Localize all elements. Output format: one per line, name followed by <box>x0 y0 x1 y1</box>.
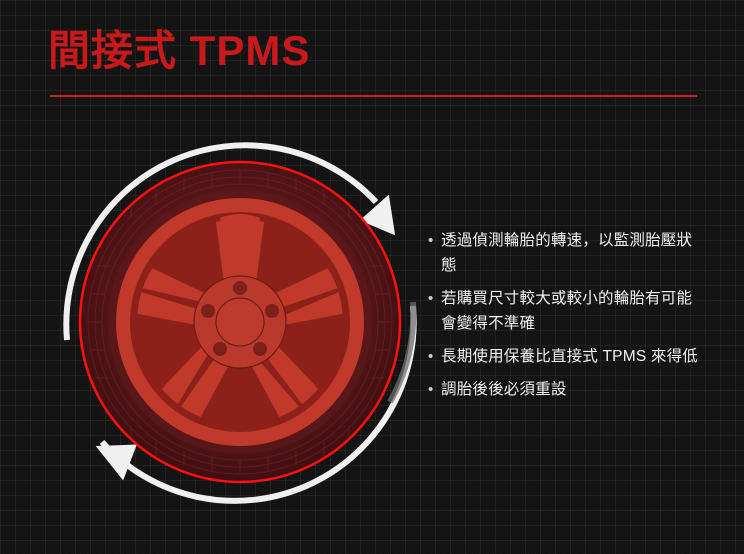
bullet-text: 透過偵測輪胎的轉速，以監測胎壓狀態 <box>441 228 700 278</box>
bullet-dot-icon: • <box>428 286 441 311</box>
title-divider-rule <box>50 95 697 97</box>
list-item: • 若購買尺寸較大或較小的輪胎有可能會變得不準確 <box>428 286 700 336</box>
lug-bolt <box>233 281 247 295</box>
page-title: 間接式 TPMS <box>48 28 310 74</box>
list-item: • 調胎後後必須重設 <box>428 377 700 402</box>
list-item: • 透過偵測輪胎的轉速，以監測胎壓狀態 <box>428 228 700 278</box>
hub-center-cap <box>216 298 264 346</box>
lug-bolt <box>253 342 267 356</box>
bullet-text: 調胎後後必須重設 <box>441 377 700 402</box>
bullet-text: 若購買尺寸較大或較小的輪胎有可能會變得不準確 <box>441 286 700 336</box>
lug-bolt <box>213 342 227 356</box>
lug-bolt <box>201 304 215 318</box>
bullet-text: 長期使用保養比直接式 TPMS 來得低 <box>441 344 700 369</box>
bullet-dot-icon: • <box>428 377 441 402</box>
bullet-dot-icon: • <box>428 228 441 253</box>
bullet-dot-icon: • <box>428 344 441 369</box>
rotating-wheel-illustration <box>44 126 436 518</box>
rotation-arrowhead-bottom <box>90 436 137 481</box>
bullet-list: • 透過偵測輪胎的轉速，以監測胎壓狀態 • 若購買尺寸較大或較小的輪胎有可能會變… <box>428 228 700 410</box>
list-item: • 長期使用保養比直接式 TPMS 來得低 <box>428 344 700 369</box>
slide-canvas: 間接式 TPMS <box>0 0 744 554</box>
lug-bolt <box>265 304 279 318</box>
